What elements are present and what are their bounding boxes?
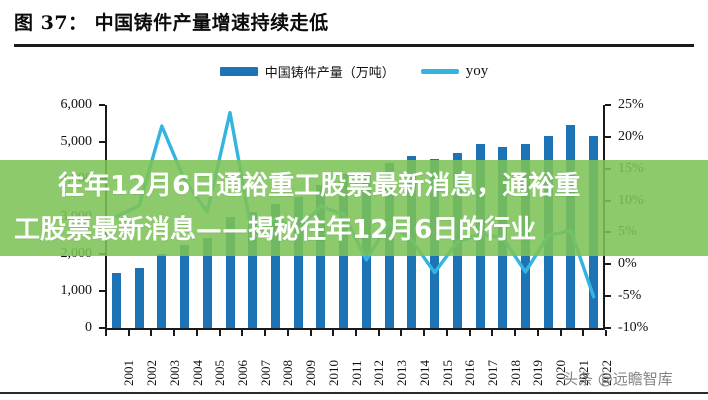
promo-headline-line-2: 工股票最新消息——揭秘往年12月6日的行业 [14,208,694,252]
right-tick-mark [605,104,611,106]
x-label-2011: 2011 [349,360,365,386]
legend-label-yoy: yoy [466,63,489,80]
chart-legend: 中国铸件产量（万吨） yoy [0,62,708,81]
right-tick-mark [605,263,611,265]
x-label-2017: 2017 [485,360,501,386]
x-label-2013: 2013 [394,360,410,386]
footer-divider [0,392,708,394]
x-label-2010: 2010 [326,360,342,386]
legend-item-yoy: yoy [421,63,489,80]
right-tick-label-0: 0% [618,256,637,272]
figure-root: 图 37： 中国铸件产量增速持续走低 中国铸件产量（万吨） yoy 01,000… [0,0,708,400]
x-tick-mark [605,330,607,336]
x-label-2001: 2001 [121,360,137,386]
x-label-2012: 2012 [371,360,387,386]
right-tick-label-20: 20% [618,129,644,145]
x-label-2007: 2007 [258,360,274,386]
x-label-2005: 2005 [212,360,228,386]
x-label-2018: 2018 [508,360,524,386]
figure-title: 图 37： 中国铸件产量增速持续走低 [14,8,329,35]
x-label-2003: 2003 [167,360,183,386]
x-label-2006: 2006 [235,360,251,386]
legend-bar-swatch-icon [220,67,258,76]
x-label-2015: 2015 [440,360,456,386]
legend-label-production: 中国铸件产量（万吨） [265,62,395,81]
legend-line-swatch-icon [421,69,459,74]
right-tick-mark [605,136,611,138]
right-tick-mark [605,327,611,329]
x-label-2004: 2004 [190,360,206,386]
right-tick-label--10: -10% [618,320,648,336]
promo-overlay-banner: 往年12月6日通裕重工股票最新消息，通裕重 工股票最新消息——揭秘往年12月6日… [0,160,708,256]
x-label-2008: 2008 [280,360,296,386]
x-label-2019: 2019 [530,360,546,386]
right-tick-label-25: 25% [618,97,644,113]
left-tick-label-5000: 5,000 [61,134,93,150]
x-axis-category-labels: 2001200220032004200520062007200820092010… [105,334,605,390]
source-watermark: 头条 @远瞻智库 [563,368,673,389]
x-label-2016: 2016 [462,360,478,386]
legend-item-production: 中国铸件产量（万吨） [220,62,395,81]
left-tick-label-1000: 1,000 [61,283,93,299]
x-label-2014: 2014 [417,360,433,386]
left-tick-label-0: 0 [85,320,92,336]
x-label-2009: 2009 [303,360,319,386]
right-tick-mark [605,295,611,297]
left-tick-label-6000: 6,000 [61,97,93,113]
right-tick-label--5: -5% [618,288,641,304]
title-divider [14,44,694,47]
promo-headline-line-1: 往年12月6日通裕重工股票最新消息，通裕重 [58,164,694,208]
x-label-2002: 2002 [144,360,160,386]
